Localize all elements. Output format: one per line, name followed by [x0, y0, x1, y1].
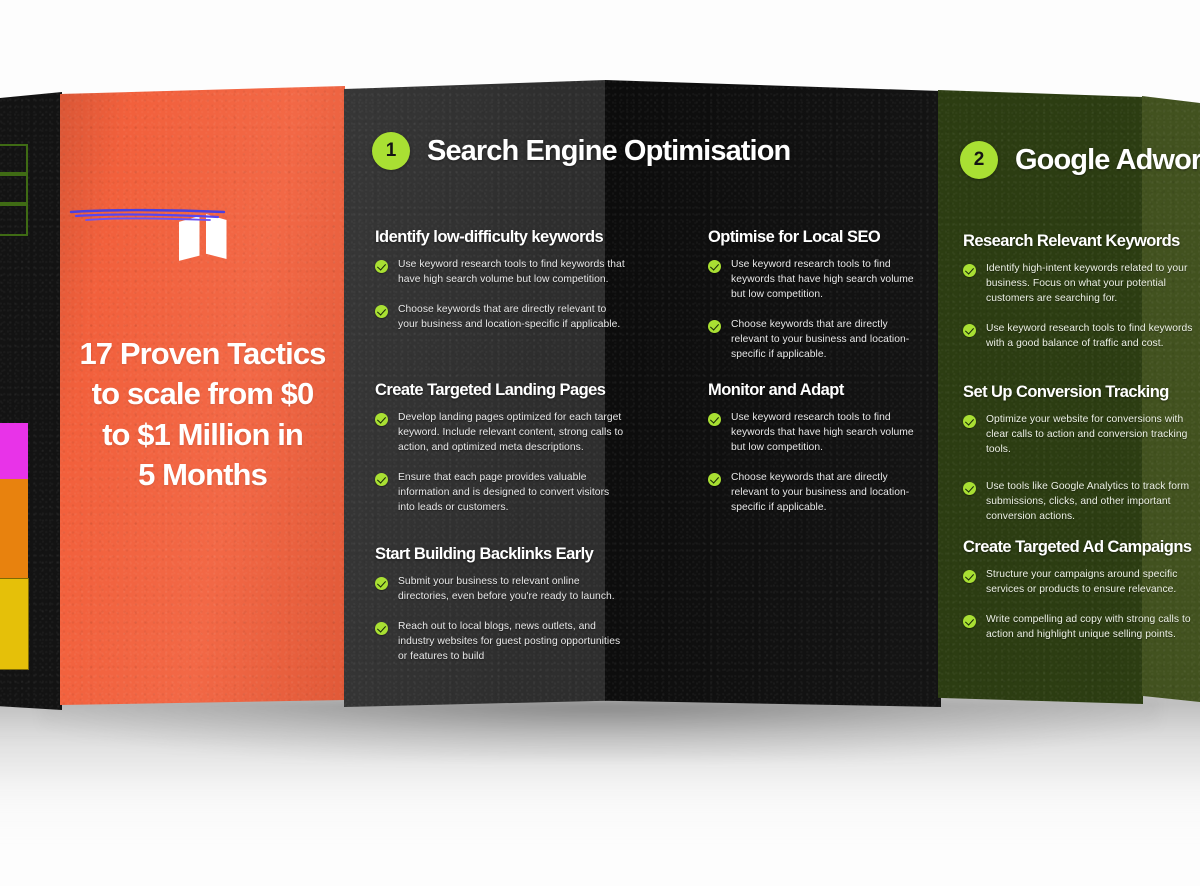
bullet-text: Use tools like Google Analytics to track…: [986, 480, 1200, 525]
bullet-text: Optimize your website for conversions wi…: [986, 413, 1200, 458]
bullet-item: Develop landing pages optimized for each…: [375, 411, 625, 456]
bullet-item: Use keyword research tools to find keywo…: [708, 411, 923, 456]
cover-title-line-1: 17 Proven Tactics: [70, 334, 335, 374]
bullet-text: Submit your business to relevant online …: [398, 575, 625, 605]
block-local-seo: Optimise for Local SEO Use keyword resea…: [708, 228, 923, 378]
brochure-mockup-scene: 17 Proven Tactics to scale from $0 to $1…: [0, 0, 1200, 886]
block-heading: Create Targeted Ad Campaigns: [963, 538, 1195, 557]
ground-shadow-core: [40, 700, 1160, 760]
bullet-text: Choose keywords that are directly releva…: [731, 318, 923, 363]
section-header-2: 2 Google Adwords: [960, 141, 1200, 179]
magenta-swatch: [0, 423, 28, 479]
bullet-text: Ensure that each page provides valuable …: [398, 471, 625, 516]
block-conversion-tracking: Set Up Conversion Tracking Optimize your…: [963, 383, 1200, 540]
check-icon: [375, 473, 388, 486]
cover-title-line-4: 5 Months: [70, 455, 335, 495]
block-heading: Monitor and Adapt: [708, 381, 923, 400]
panel-cover: 17 Proven Tactics to scale from $0 to $1…: [60, 86, 345, 705]
bullet-item: Reach out to local blogs, news outlets, …: [375, 620, 625, 665]
section-number-badge-1: 1: [372, 132, 410, 170]
bullet-text: Structure your campaigns around specific…: [986, 568, 1195, 598]
bullet-item: Use tools like Google Analytics to track…: [963, 480, 1200, 525]
check-icon: [963, 615, 976, 628]
bullet-text: Use keyword research tools to find keywo…: [731, 258, 923, 303]
bullet-text: Use keyword research tools to find keywo…: [986, 322, 1195, 352]
yellow-swatch: [0, 579, 28, 669]
check-icon: [375, 413, 388, 426]
check-icon: [375, 577, 388, 590]
block-research-keywords: Research Relevant Keywords Identify high…: [963, 232, 1195, 367]
cover-title: 17 Proven Tactics to scale from $0 to $1…: [60, 334, 345, 495]
bullet-item: Use keyword research tools to find keywo…: [963, 322, 1195, 352]
bullet-text: Choose keywords that are directly releva…: [731, 471, 923, 516]
check-icon: [375, 305, 388, 318]
section-number-badge-2: 2: [960, 141, 998, 179]
section-title-2: Google Adwords: [1015, 144, 1200, 177]
block-heading: Research Relevant Keywords: [963, 232, 1195, 251]
block-ad-campaigns: Create Targeted Ad Campaigns Structure y…: [963, 538, 1195, 658]
block-identify-keywords: Identify low-difficulty keywords Use key…: [375, 228, 625, 348]
bullet-item: Identify high-intent keywords related to…: [963, 262, 1195, 307]
bullet-text: Write compelling ad copy with strong cal…: [986, 613, 1195, 643]
outline-rect-3: [0, 204, 28, 236]
bullet-item: Ensure that each page provides valuable …: [375, 471, 625, 516]
bullet-item: Choose keywords that are directly releva…: [708, 318, 923, 363]
block-heading: Identify low-difficulty keywords: [375, 228, 625, 247]
check-icon: [963, 415, 976, 428]
bullet-item: Use keyword research tools to find keywo…: [375, 258, 625, 288]
bullet-text: Identify high-intent keywords related to…: [986, 262, 1195, 307]
bullet-item: Optimize your website for conversions wi…: [963, 413, 1200, 458]
cover-title-line-2: to scale from $0: [70, 374, 335, 414]
outline-rect-2: [0, 174, 28, 204]
bullet-text: Use keyword research tools to find keywo…: [731, 411, 923, 456]
block-heading: Create Targeted Landing Pages: [375, 381, 625, 400]
block-heading: Start Building Backlinks Early: [375, 545, 625, 564]
section-header-1: 1 Search Engine Optimisation: [372, 132, 790, 170]
bullet-text: Choose keywords that are directly releva…: [398, 303, 625, 333]
block-backlinks: Start Building Backlinks Early Submit yo…: [375, 545, 625, 680]
check-icon: [708, 320, 721, 333]
bullet-text: Develop landing pages optimized for each…: [398, 411, 625, 456]
section-title-1: Search Engine Optimisation: [427, 135, 790, 168]
block-heading: Set Up Conversion Tracking: [963, 383, 1200, 402]
open-book-icon: [179, 214, 227, 264]
check-icon: [708, 260, 721, 273]
bullet-item: Choose keywords that are directly releva…: [708, 471, 923, 516]
check-icon: [708, 413, 721, 426]
check-icon: [375, 260, 388, 273]
bullet-item: Choose keywords that are directly releva…: [375, 303, 625, 333]
check-icon: [708, 473, 721, 486]
block-landing-pages: Create Targeted Landing Pages Develop la…: [375, 381, 625, 531]
check-icon: [963, 324, 976, 337]
bullet-text: Reach out to local blogs, news outlets, …: [398, 620, 625, 665]
outline-rect-1: [0, 144, 28, 174]
bullet-item: Write compelling ad copy with strong cal…: [963, 613, 1195, 643]
check-icon: [375, 622, 388, 635]
panel-left-partial: [0, 92, 62, 710]
orange-swatch: [0, 479, 28, 579]
bullet-item: Structure your campaigns around specific…: [963, 568, 1195, 598]
check-icon: [963, 570, 976, 583]
cover-title-line-3: to $1 Million in: [70, 415, 335, 455]
check-icon: [963, 264, 976, 277]
bullet-item: Use keyword research tools to find keywo…: [708, 258, 923, 303]
check-icon: [963, 482, 976, 495]
bullet-text: Use keyword research tools to find keywo…: [398, 258, 625, 288]
bullet-item: Submit your business to relevant online …: [375, 575, 625, 605]
block-heading: Optimise for Local SEO: [708, 228, 923, 247]
block-monitor-adapt: Monitor and Adapt Use keyword research t…: [708, 381, 923, 531]
